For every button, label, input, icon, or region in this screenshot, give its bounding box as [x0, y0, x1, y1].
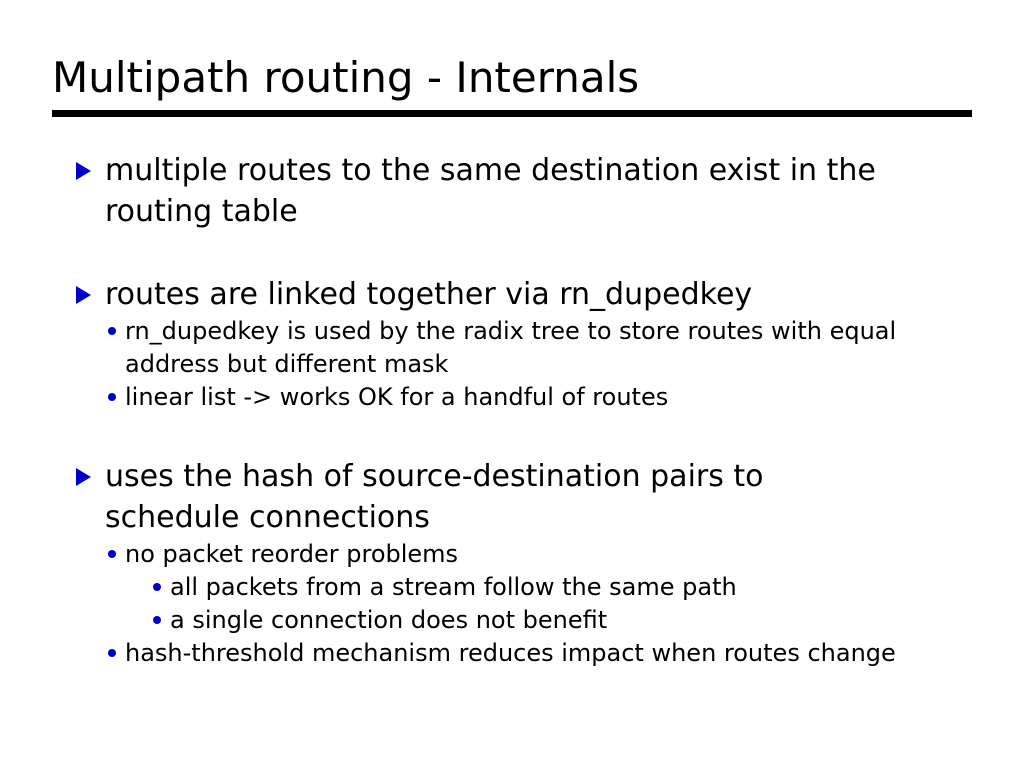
bullet-text: multiple routes to the same destination …: [105, 153, 876, 229]
dot-bullet-icon: [108, 327, 116, 335]
bullet-level1: multiple routes to the same destination …: [0, 150, 1024, 232]
bullet-text: hash-threshold mechanism reduces impact …: [125, 639, 896, 667]
bullet-level3: a single connection does not benefit: [0, 604, 1024, 637]
bullet-text: linear list -> works OK for a handful of…: [125, 383, 668, 411]
slide: Multipath routing - Internals multiple r…: [0, 0, 1024, 768]
bullet-group-2: routes are linked together via rn_dupedk…: [0, 274, 1024, 414]
bullet-level2: linear list -> works OK for a handful of…: [0, 381, 1024, 414]
bullet-level1: routes are linked together via rn_dupedk…: [0, 274, 1024, 315]
dot-bullet-icon: [153, 616, 161, 624]
bullet-text: uses the hash of source-destination pair…: [105, 459, 764, 535]
triangle-bullet-icon: [76, 286, 91, 304]
triangle-bullet-icon: [76, 162, 91, 180]
bullet-level2: rn_dupedkey is used by the radix tree to…: [0, 315, 1024, 381]
slide-title-block: Multipath routing - Internals: [52, 52, 972, 104]
bullet-group-1: multiple routes to the same destination …: [0, 150, 1024, 232]
spacer: [0, 232, 1024, 274]
bullet-text: no packet reorder problems: [125, 540, 458, 568]
dot-bullet-icon: [108, 649, 116, 657]
dot-bullet-icon: [153, 583, 161, 591]
bullet-text: rn_dupedkey is used by the radix tree to…: [125, 317, 896, 378]
bullet-level2: hash-threshold mechanism reduces impact …: [0, 637, 1024, 670]
title-underline-rule: [52, 110, 972, 117]
page-title: Multipath routing - Internals: [52, 52, 972, 104]
bullet-text: routes are linked together via rn_dupedk…: [105, 277, 752, 312]
bullet-text: a single connection does not benefit: [170, 606, 607, 634]
slide-body: multiple routes to the same destination …: [0, 150, 1024, 670]
spacer: [0, 414, 1024, 456]
bullet-level2: no packet reorder problems: [0, 538, 1024, 571]
bullet-group-3: uses the hash of source-destination pair…: [0, 456, 1024, 670]
dot-bullet-icon: [108, 550, 116, 558]
bullet-level1: uses the hash of source-destination pair…: [0, 456, 1024, 538]
dot-bullet-icon: [108, 393, 116, 401]
bullet-text: all packets from a stream follow the sam…: [170, 573, 737, 601]
triangle-bullet-icon: [76, 468, 91, 486]
bullet-level3: all packets from a stream follow the sam…: [0, 571, 1024, 604]
